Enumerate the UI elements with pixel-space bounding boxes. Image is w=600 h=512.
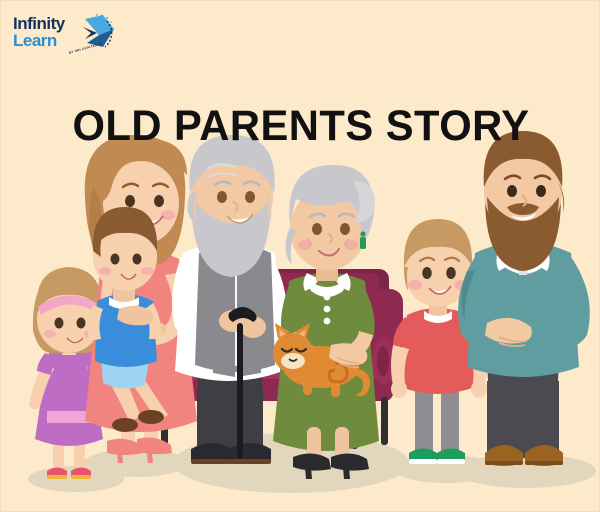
figure-grandmother <box>273 165 379 479</box>
logo-line-infinity: Infinity <box>13 15 65 32</box>
page-title: OLD PARENTS STORY <box>10 102 592 151</box>
poster-canvas: Infinity Learn BY SRI CHAITANYA OLD PARE… <box>0 0 600 512</box>
figure-father <box>458 131 590 466</box>
brand-logo[interactable]: Infinity Learn BY SRI CHAITANYA <box>13 11 118 59</box>
logo-line-learn: Learn <box>13 32 57 49</box>
family-illustration <box>1 1 600 512</box>
